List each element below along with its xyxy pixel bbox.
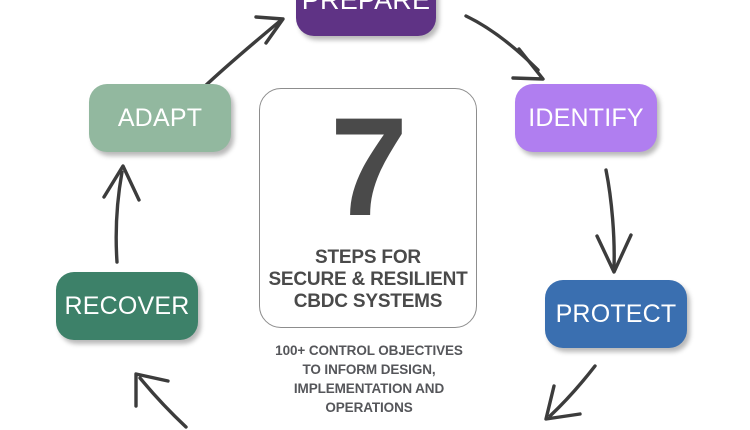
node-recover-label: RECOVER	[64, 294, 189, 319]
node-protect-label: PROTECT	[556, 302, 677, 327]
caption-line-1: 100+ CONTROL OBJECTIVES	[245, 341, 493, 360]
node-identify-label: IDENTIFY	[528, 106, 644, 131]
node-adapt-label: ADAPT	[118, 106, 202, 131]
caption-line-3: IMPLEMENTATION AND	[245, 379, 493, 398]
center-number: 7	[330, 97, 406, 237]
caption-line-4: OPERATIONS	[245, 398, 493, 417]
node-prepare-label: PREPARE	[302, 0, 430, 14]
arrow-adapt-to-prepare	[203, 17, 283, 88]
center-card: 7 STEPS FOR SECURE & RESILIENT CBDC SYST…	[259, 88, 477, 328]
arrow-recover-to-adapt	[104, 166, 139, 262]
node-recover[interactable]: RECOVER	[56, 272, 198, 340]
node-prepare[interactable]: PREPARE	[296, 0, 436, 36]
node-adapt[interactable]: ADAPT	[89, 84, 231, 152]
arrow-protect-outgoing	[546, 366, 595, 419]
center-subtitle: STEPS FOR SECURE & RESILIENT CBDC SYSTEM…	[268, 247, 467, 313]
arrow-prepare-to-identify	[466, 16, 543, 79]
node-identify[interactable]: IDENTIFY	[515, 84, 657, 152]
center-subtitle-line-1: STEPS FOR	[268, 247, 467, 269]
arrow-incoming-to-recover	[136, 374, 186, 427]
arrow-identify-to-protect	[597, 170, 631, 272]
center-subtitle-line-2: SECURE & RESILIENT	[268, 269, 467, 291]
center-subtitle-line-3: CBDC SYSTEMS	[268, 291, 467, 313]
node-protect[interactable]: PROTECT	[545, 280, 687, 348]
caption: 100+ CONTROL OBJECTIVES TO INFORM DESIGN…	[245, 341, 493, 418]
cbdc-cycle-diagram: PREPARE IDENTIFY PROTECT RECOVER ADAPT 7…	[0, 0, 750, 430]
caption-line-2: TO INFORM DESIGN,	[245, 360, 493, 379]
